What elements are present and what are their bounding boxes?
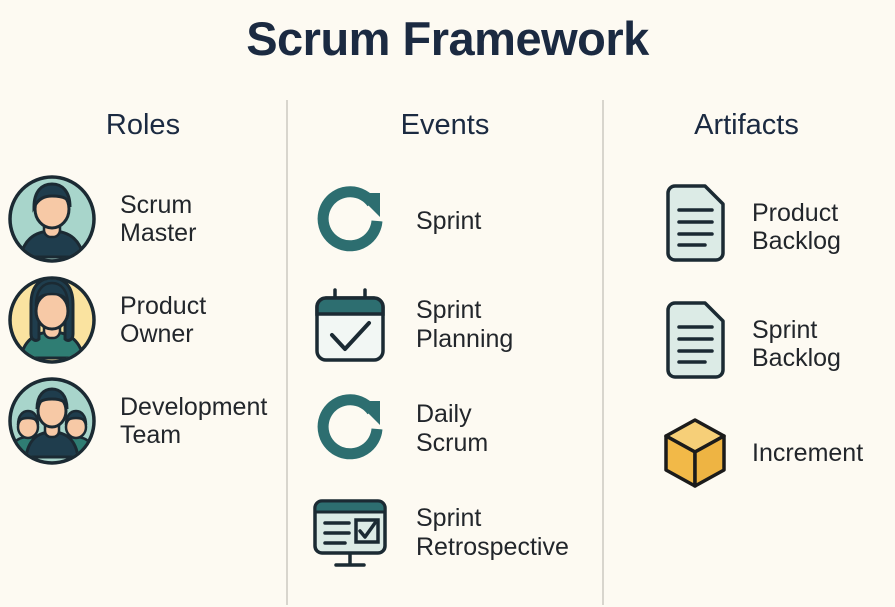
list-item-label: Development Team bbox=[120, 393, 267, 450]
refresh-cycle-icon bbox=[308, 387, 392, 471]
avatar-scrum-master-icon bbox=[6, 173, 98, 265]
presentation-board-icon bbox=[308, 491, 392, 575]
list-item-increment[interactable]: Increment bbox=[604, 403, 895, 503]
column-header-events: Events bbox=[288, 108, 602, 143]
list-item-daily-scrum[interactable]: Daily Scrum bbox=[288, 377, 602, 481]
document-lines-icon bbox=[660, 184, 730, 270]
avatar-development-team-icon bbox=[6, 375, 98, 467]
list-item-label: Product Backlog bbox=[752, 199, 841, 256]
list-item-label: Sprint Retrospective bbox=[416, 504, 569, 561]
list-item-sprint-retrospective[interactable]: Sprint Retrospective bbox=[288, 481, 602, 585]
column-artifacts: Artifacts Product Backlog bbox=[604, 108, 895, 503]
list-item-product-owner[interactable]: Product Owner bbox=[0, 270, 286, 371]
list-item-label: Product Owner bbox=[120, 292, 206, 349]
list-item-label: Sprint bbox=[416, 207, 481, 236]
list-item-label: Scrum Master bbox=[120, 191, 196, 248]
list-item-scrum-master[interactable]: Scrum Master bbox=[0, 169, 286, 270]
list-item-sprint-backlog[interactable]: Sprint Backlog bbox=[604, 286, 895, 403]
list-item-label: Daily Scrum bbox=[416, 400, 488, 457]
document-lines-icon bbox=[660, 301, 730, 387]
list-item-sprint[interactable]: Sprint bbox=[288, 169, 602, 273]
scrum-framework-infographic: Scrum Framework Roles Scrum Master bbox=[0, 0, 895, 607]
calendar-check-icon bbox=[308, 283, 392, 367]
list-item-label: Increment bbox=[752, 439, 863, 468]
list-item-label: Sprint Planning bbox=[416, 296, 513, 353]
column-header-roles: Roles bbox=[0, 108, 286, 143]
refresh-cycle-icon bbox=[308, 179, 392, 263]
column-header-artifacts: Artifacts bbox=[604, 108, 895, 143]
list-item-label: Sprint Backlog bbox=[752, 316, 841, 373]
page-title: Scrum Framework bbox=[0, 12, 895, 66]
cube-3d-icon bbox=[660, 414, 730, 492]
list-item-sprint-planning[interactable]: Sprint Planning bbox=[288, 273, 602, 377]
column-events: Events Sprint Sprint bbox=[288, 108, 602, 585]
list-item-development-team[interactable]: Development Team bbox=[0, 371, 286, 472]
avatar-product-owner-icon bbox=[6, 274, 98, 366]
column-roles: Roles Scrum Master bbox=[0, 108, 286, 472]
list-item-product-backlog[interactable]: Product Backlog bbox=[604, 169, 895, 286]
